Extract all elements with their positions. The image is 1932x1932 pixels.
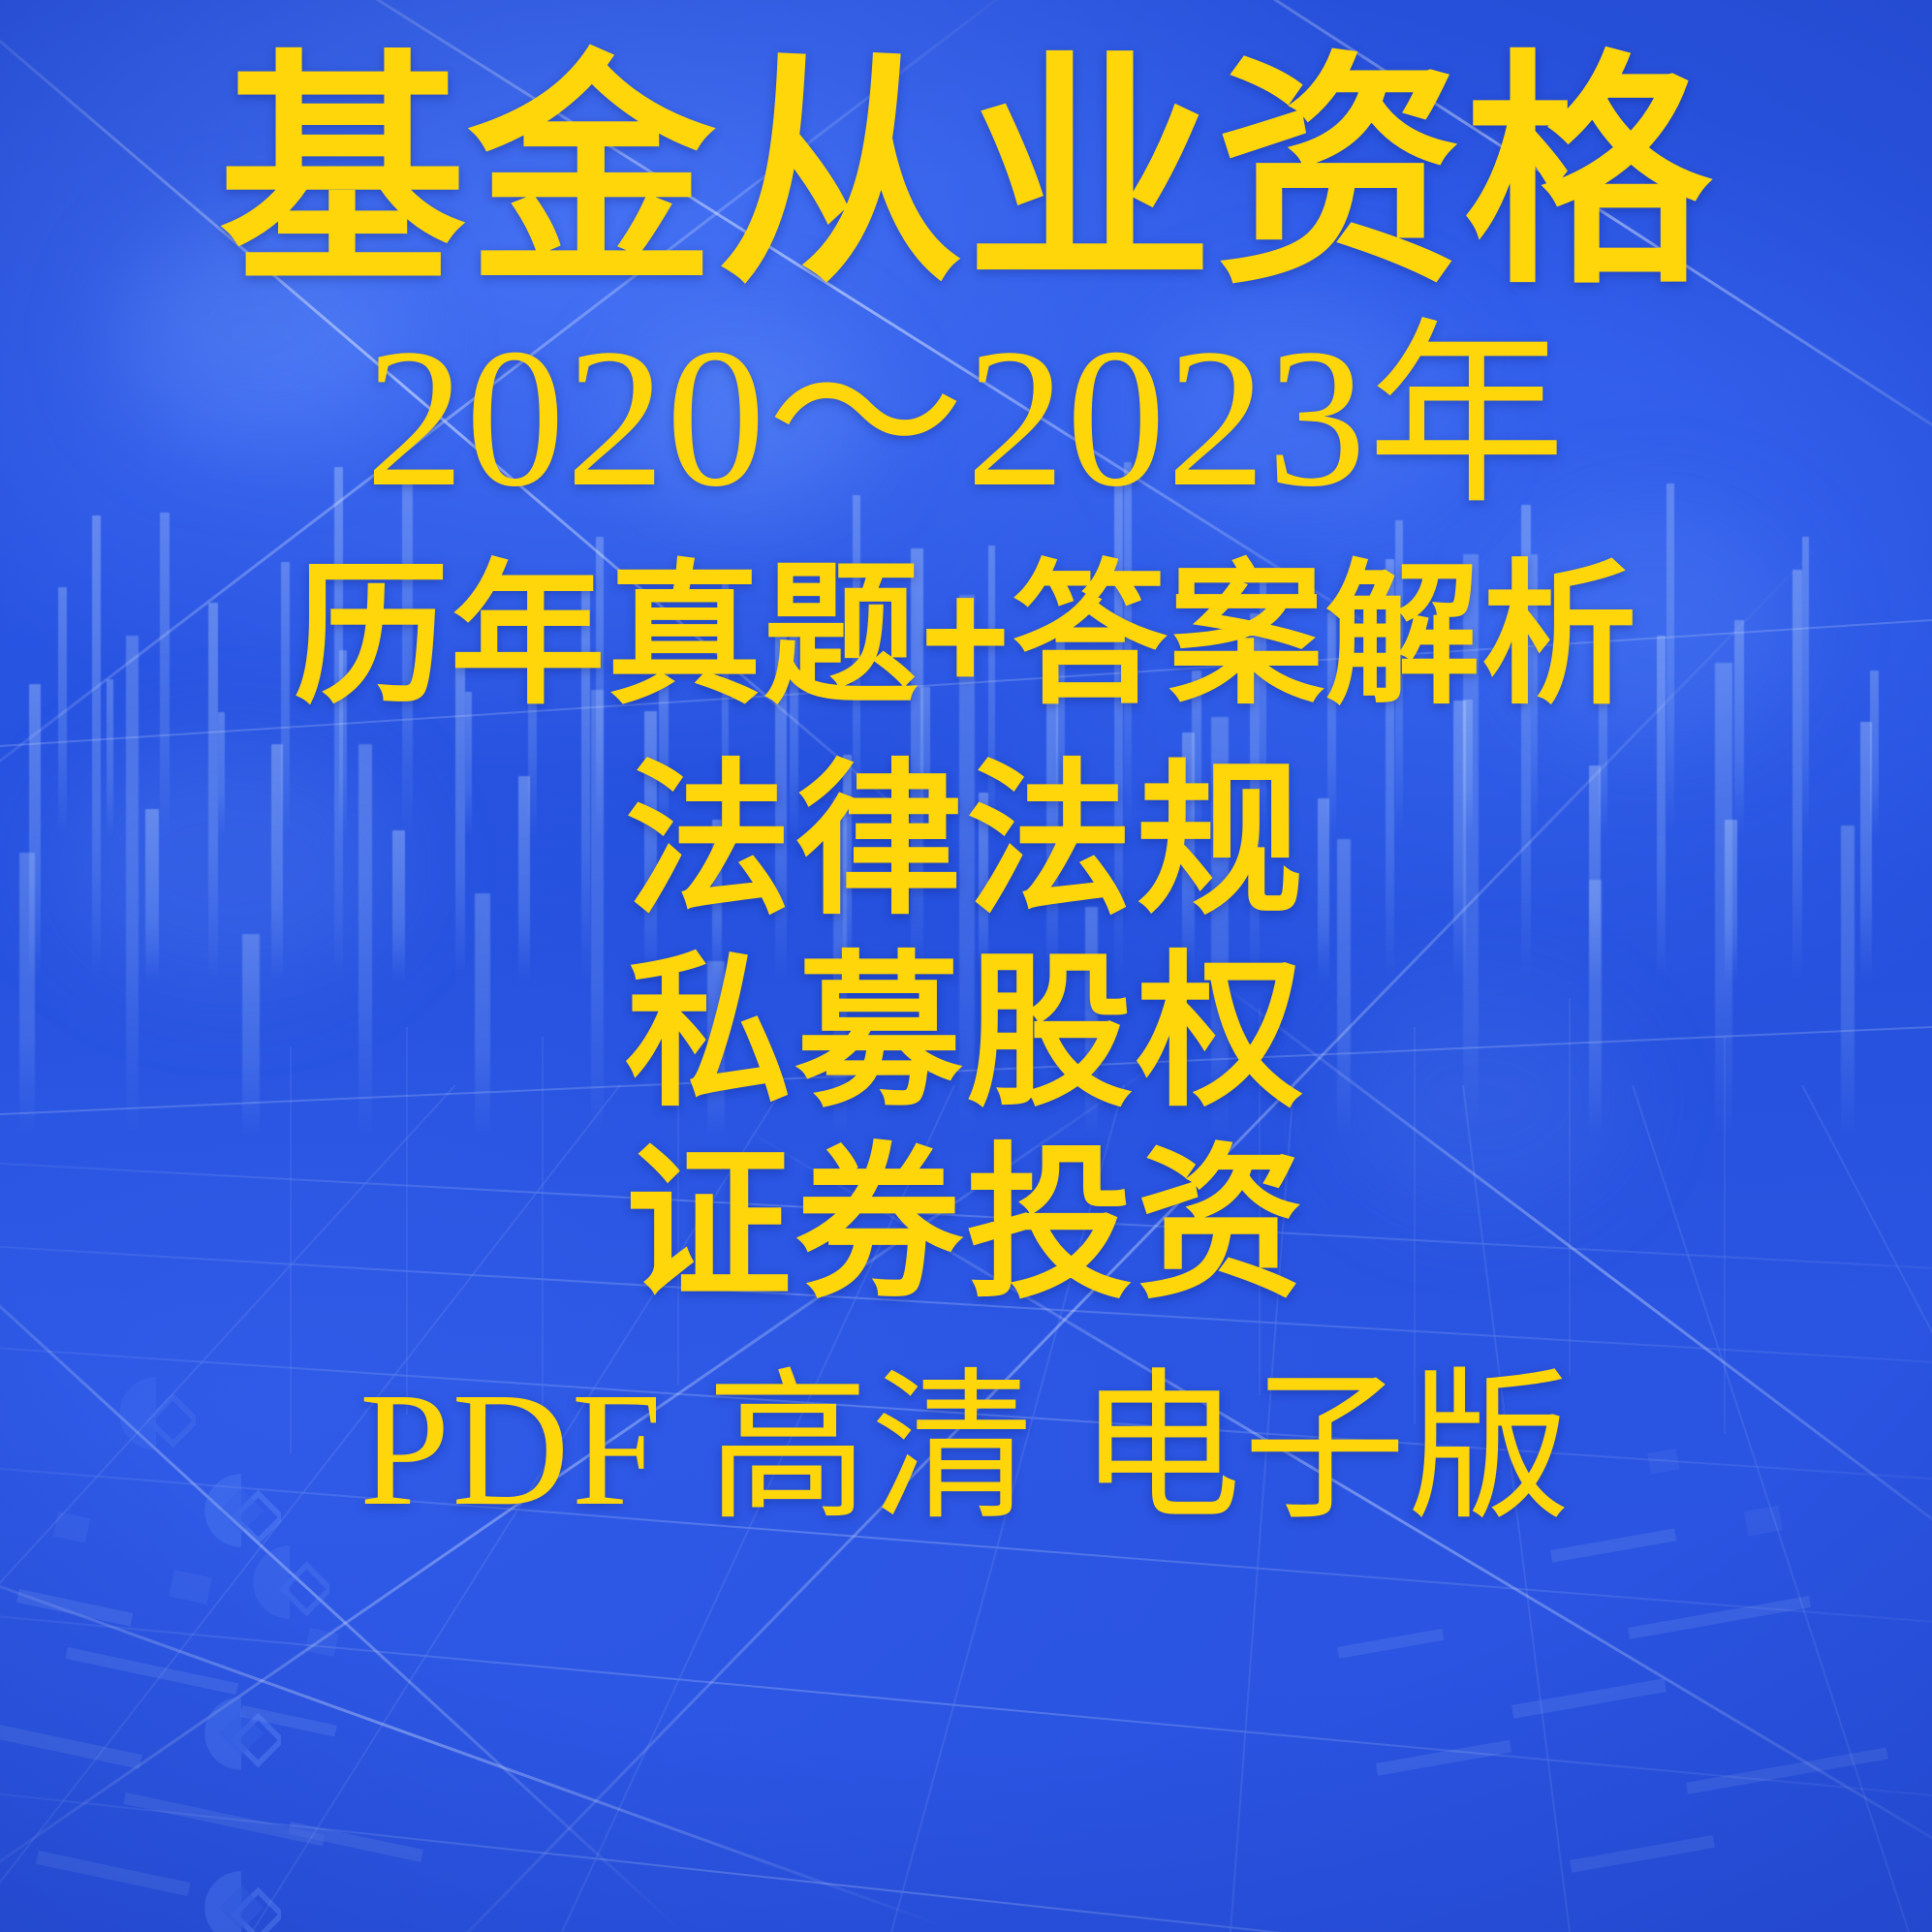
poster-format-line: PDF 高清 电子版	[359, 1368, 1573, 1531]
poster-topic-private-equity: 私募股权	[625, 950, 1307, 1116]
poster-subtitle: 历年真题+答案解析	[294, 558, 1638, 713]
poster-topic-law: 法律法规	[625, 758, 1307, 924]
poster-year-range: 2020～2023年	[365, 319, 1567, 517]
poster-title: 基金从业资格	[219, 50, 1713, 297]
poster-text-content: 基金从业资格 2020～2023年 历年真题+答案解析 法律法规 私募股权 证券…	[0, 0, 1932, 1932]
poster-canvas: 基金从业资格 2020～2023年 历年真题+答案解析 法律法规 私募股权 证券…	[0, 0, 1932, 1932]
poster-topic-securities: 证券投资	[625, 1141, 1307, 1308]
